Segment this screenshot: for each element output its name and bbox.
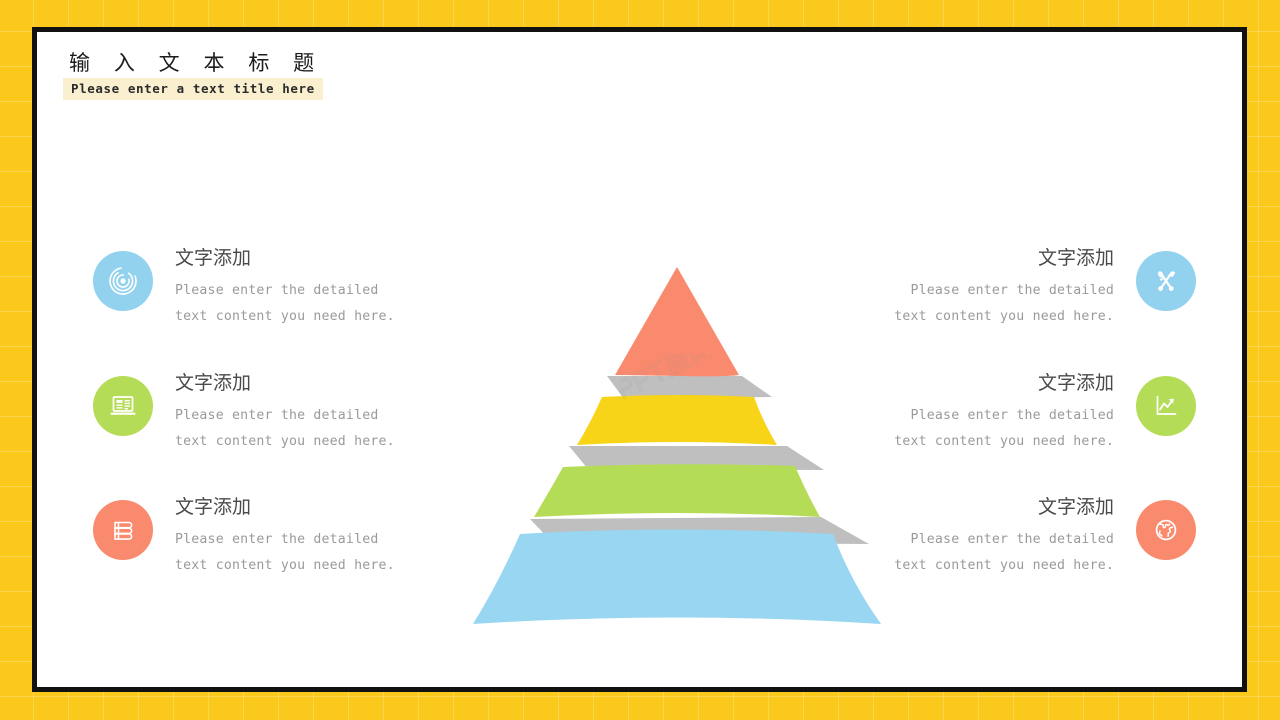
slide-canvas: 输 入 文 本 标 题 Please enter a text title he… <box>0 0 1280 720</box>
pyramid-level-3 <box>534 464 820 517</box>
pyramid-level-4 <box>473 530 881 625</box>
title-chinese: 输 入 文 本 标 题 <box>63 51 483 77</box>
feature-title: 文字添加 <box>175 247 443 271</box>
feature-body: Please enter the detailed text content y… <box>175 403 443 455</box>
feature-title: 文字添加 <box>175 372 443 396</box>
feature-item-right-1[interactable]: 文字添加 Please enter the detailed text cont… <box>846 247 1196 330</box>
feature-body: Please enter the detailed text content y… <box>175 527 443 579</box>
feature-item-right-2[interactable]: 文字添加 Please enter the detailed text cont… <box>846 372 1196 455</box>
tools-icon <box>1136 251 1196 311</box>
feature-item-left-3[interactable]: 文字添加 Please enter the detailed text cont… <box>93 496 443 579</box>
slide-card: 输 入 文 本 标 题 Please enter a text title he… <box>32 27 1247 692</box>
feature-text-left-1: 文字添加 Please enter the detailed text cont… <box>175 247 443 330</box>
feature-text-left-3: 文字添加 Please enter the detailed text cont… <box>175 496 443 579</box>
title-english-wrap: Please enter a text title here <box>63 78 323 100</box>
target-icon <box>93 251 153 311</box>
feature-item-left-1[interactable]: 文字添加 Please enter the detailed text cont… <box>93 247 443 330</box>
pyramid-chart <box>457 257 897 637</box>
laptop-presentation-icon <box>93 376 153 436</box>
pyramid-level-1 <box>615 267 739 376</box>
feature-item-left-2[interactable]: 文字添加 Please enter the detailed text cont… <box>93 372 443 455</box>
feature-text-left-2: 文字添加 Please enter the detailed text cont… <box>175 372 443 455</box>
feature-body: Please enter the detailed text content y… <box>175 278 443 330</box>
books-icon <box>93 500 153 560</box>
page-title: 输 入 文 本 标 题 Please enter a text title he… <box>63 51 483 100</box>
growth-chart-icon <box>1136 376 1196 436</box>
feature-item-right-3[interactable]: 文字添加 Please enter the detailed text cont… <box>846 496 1196 579</box>
feature-title: 文字添加 <box>175 496 443 520</box>
title-english: Please enter a text title here <box>63 78 323 100</box>
pyramid-level-2 <box>577 395 777 445</box>
globe-icon <box>1136 500 1196 560</box>
